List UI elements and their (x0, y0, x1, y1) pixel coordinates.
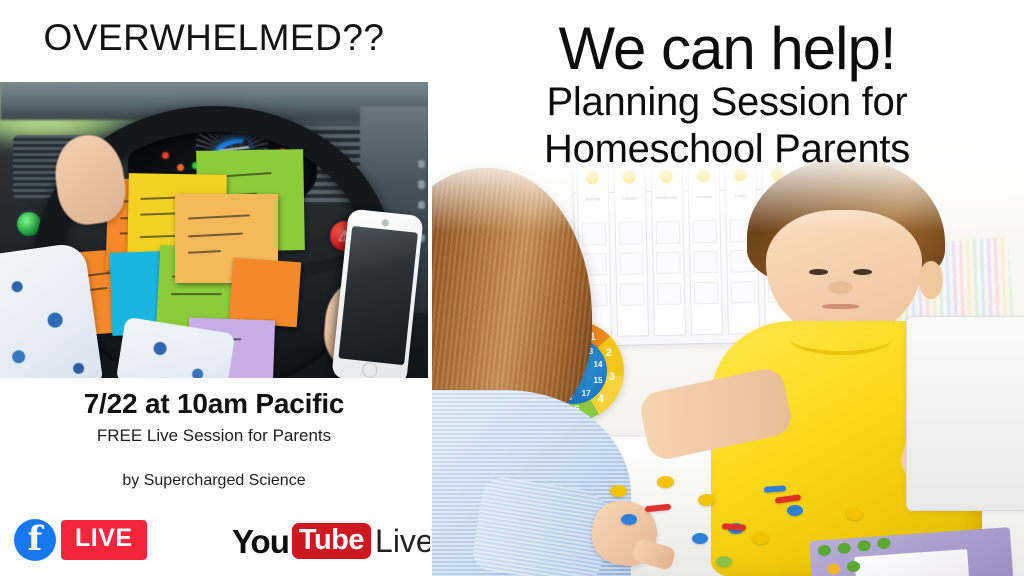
mat-card (855, 550, 970, 576)
phone-screen (338, 226, 417, 365)
headline-line-3: Homeschool Parents (430, 126, 1024, 172)
counting-chip (610, 485, 627, 497)
facebook-live-badge[interactable]: LIVE (14, 518, 147, 562)
counting-chip (787, 505, 803, 516)
counting-chip (657, 476, 674, 488)
counting-chip (692, 533, 708, 544)
stressed-driver-with-sticky-notes-photo (0, 82, 428, 378)
event-date: 7/22 at 10am Pacific (0, 388, 428, 420)
streaming-badges: LIVE You Tube Live (0, 518, 428, 568)
youtube-logo-you: You (232, 525, 289, 558)
main-headline: We can help! Planning Session for Homesc… (430, 18, 1024, 172)
sticky-note (229, 257, 302, 327)
headline-line-1: We can help! (430, 18, 1024, 79)
youtube-logo-tube: Tube (292, 523, 371, 559)
youtube-live-label: Live (375, 525, 434, 557)
promotional-poster: OVERWHELMED?? (0, 0, 1024, 576)
phone-home-button (362, 362, 378, 378)
counting-chip (752, 532, 769, 544)
phone-camera (382, 219, 390, 227)
presenter-credit: by Supercharged Science (0, 472, 428, 490)
child-ear (919, 261, 942, 299)
facebook-icon (14, 519, 56, 561)
homeschool-parent-and-child-photo: MY WEEKLY CALENDAR Monday Tuesday Wednes… (432, 112, 1024, 576)
counting-chip (716, 556, 732, 567)
event-subtitle: FREE Live Session for Parents (0, 426, 428, 446)
white-chair (906, 316, 1024, 511)
page-title: OVERWHELMED?? (0, 18, 428, 59)
counting-stick (722, 523, 746, 531)
left-panel: OVERWHELMED?? (0, 0, 428, 576)
headline-line-2: Planning Session for (430, 79, 1024, 125)
right-panel: MY WEEKLY CALENDAR Monday Tuesday Wednes… (430, 0, 1024, 576)
child-shirt-collar (789, 321, 893, 355)
facebook-live-label: LIVE (61, 520, 147, 559)
youtube-live-badge[interactable]: You Tube Live (232, 520, 434, 562)
